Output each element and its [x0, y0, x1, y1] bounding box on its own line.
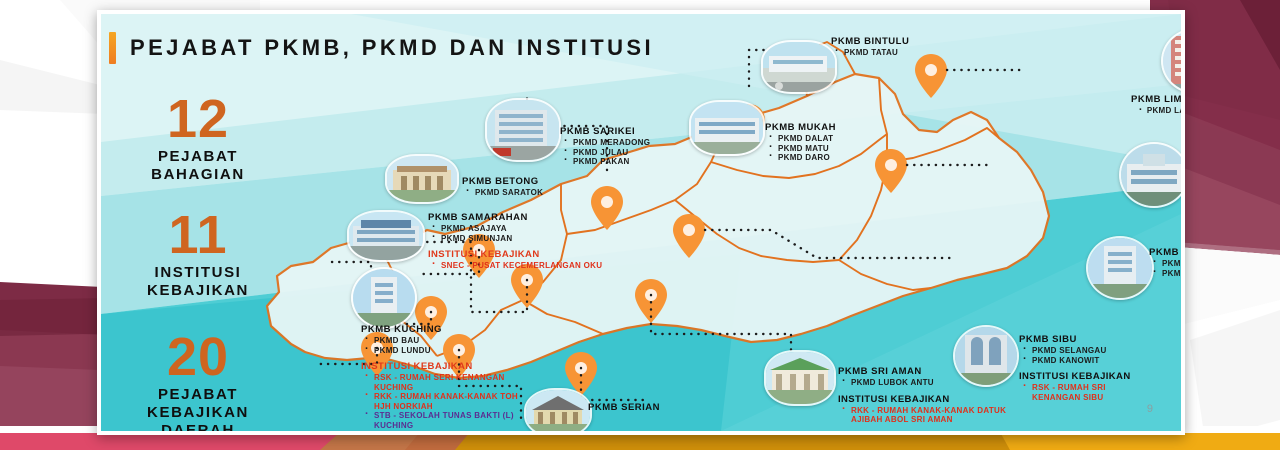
photo-miri [1119, 142, 1185, 208]
slide-card: PEJABAT PKMB, PKMD DAN INSTITUSI [97, 10, 1185, 435]
stat-pejabat-bahagian: 12 PEJABAT BAHAGIAN [123, 94, 273, 184]
office-title: PKMB SARIKEI [560, 126, 650, 137]
office-child: PKMD PAKAN [560, 157, 650, 167]
page-number: 9 [1147, 403, 1153, 415]
stat-caption: PEJABAT BAHAGIAN [123, 148, 273, 184]
office-label-sibu: PKMB SIBU PKMD SELANGAU PKMD KANOWIT INS… [1019, 334, 1152, 402]
office-child: PKMD KANOWIT [1019, 356, 1152, 366]
office-title: PKMB SAMARAHAN [428, 212, 602, 223]
slide-title-group: PEJABAT PKMB, PKMD DAN INSTITUSI [109, 32, 654, 64]
office-children: PKMD BAU PKMD LUNDU [361, 336, 524, 355]
office-child: PKMD ASAJAYA [428, 224, 602, 234]
office-title: PKMB BINTULU [831, 36, 909, 47]
institution-list: SNEC - PUSAT KECEMERLANGAN OKU [428, 261, 602, 271]
stat-caption-line1: INSTITUSI [123, 264, 273, 282]
page-title: PEJABAT PKMB, PKMD DAN INSTITUSI [130, 35, 654, 61]
photo-kapit [1086, 236, 1154, 300]
office-child: PKMD BAU [361, 336, 524, 346]
office-title: PKMB BETONG [462, 176, 543, 187]
office-children: PKMD LUBOK ANTU [838, 378, 1009, 388]
stat-number: 20 [123, 332, 273, 382]
institution-heading: INSTITUSI KEBAJIKAN [361, 361, 524, 372]
office-child: PKMD DARO [765, 153, 836, 163]
photo-kuching [351, 267, 417, 329]
stat-caption: INSTITUSI KEBAJIKAN [123, 264, 273, 300]
institution-item: STB - SEKOLAH TUNAS BAKTI (L) KUCHING [361, 411, 524, 430]
stat-caption: PEJABAT KEBAJIKAN DAERAH [123, 386, 273, 435]
office-child: PKMD SIMUNJAN [428, 234, 602, 244]
institution-item: SNEC - PUSAT KECEMERLANGAN OKU [428, 261, 602, 271]
institution-item: RKK - RUMAH KANAK-KANAK DATUK AJIBAH ABO… [838, 406, 1009, 425]
office-label-mukah: PKMB MUKAH PKMD DALAT PKMD MATU PKMD DAR… [765, 122, 836, 163]
institution-item: TSP - TAMAN SERI PUTERI [361, 430, 524, 435]
office-label-bintulu: PKMB BINTULU PKMD TATAU [831, 36, 909, 58]
stat-caption-line2: KEBAJIKAN [123, 404, 273, 422]
office-label-limbang: PKMB LIMBANG PKMD LAWAS [1131, 94, 1185, 116]
institution-item: RKK - RUMAH KANAK-KANAK TOH HJH NORKIAH [361, 392, 524, 411]
office-title: PKMB SRI AMAN [838, 366, 1009, 377]
stat-caption-line1: PEJABAT [123, 386, 273, 404]
photo-serian [524, 388, 592, 435]
stat-pejabat-kebajikan-daerah: 20 PEJABAT KEBAJIKAN DAERAH [123, 332, 273, 435]
office-title: PKMB KUCHING [361, 324, 524, 335]
institution-heading: INSTITUSI KEBAJIKAN [838, 394, 1009, 405]
office-child: PKMD LUNDU [361, 346, 524, 356]
institution-heading: INSTITUSI KEBAJIKAN [1019, 371, 1152, 382]
institution-heading: INSTITUSI KEBAJIKAN [428, 249, 602, 260]
photo-betong [385, 154, 459, 204]
stat-caption-line2: KEBAJIKAN [123, 282, 273, 300]
office-title: PKMB SERIAN [588, 402, 660, 413]
institution-item: RSK - RUMAH SRI KENANGAN SIBU [1019, 383, 1152, 402]
office-child: PKMD SELANGAU [1019, 346, 1152, 356]
title-accent-bar [109, 32, 116, 64]
office-label-sri-aman: PKMB SRI AMAN PKMD LUBOK ANTU INSTITUSI … [838, 366, 1009, 425]
photo-samarahan [347, 210, 425, 262]
office-child: PKMD TATAU [831, 48, 909, 58]
office-child: PKMD BELAGA [1149, 269, 1185, 279]
stat-number: 11 [123, 210, 273, 260]
office-children: PKMD LAWAS [1131, 106, 1185, 116]
office-label-kuching: PKMB KUCHING PKMD BAU PKMD LUNDU INSTITU… [361, 324, 524, 435]
office-child: PKMD MERADONG [560, 138, 650, 148]
institution-item: RSK - RUMAH SERI KENANGAN KUCHING [361, 373, 524, 392]
stat-caption-line3: DAERAH [123, 422, 273, 435]
office-child: PKMD LAWAS [1131, 106, 1185, 116]
office-children: PKMD ASAJAYA PKMD SIMUNJAN [428, 224, 602, 243]
office-child: PKMD LUBOK ANTU [838, 378, 1009, 388]
photo-bintulu [761, 40, 837, 94]
office-children: PKMD MERADONG PKMD JULAU PKMD PAKAN [560, 138, 650, 167]
office-child: PKMD DALAT [765, 134, 836, 144]
office-label-sarikei: PKMB SARIKEI PKMD MERADONG PKMD JULAU PK… [560, 126, 650, 167]
photo-mukah [689, 100, 765, 156]
institution-list: RSK - RUMAH SRI KENANGAN SIBU [1019, 383, 1152, 402]
office-title: PKMB SIBU [1019, 334, 1152, 345]
stat-institusi-kebajikan: 11 INSTITUSI KEBAJIKAN [123, 210, 273, 300]
photo-sarikei [485, 98, 561, 162]
photo-sri-aman [764, 350, 836, 406]
map-pin-limbang [915, 54, 947, 98]
office-label-serian: PKMB SERIAN [588, 402, 660, 413]
office-child: PKMD MATU [765, 144, 836, 154]
office-children: PKMD TATAU [831, 48, 909, 58]
stat-caption-line2: BAHAGIAN [123, 166, 273, 184]
office-children: PKMD SARATOK [462, 188, 543, 198]
office-label-kapit: PKMB KAPIT PKMD SONG PKMD BELAGA [1149, 247, 1185, 278]
office-title: PKMB MUKAH [765, 122, 836, 133]
office-label-betong: PKMB BETONG PKMD SARATOK [462, 176, 543, 198]
stat-caption-line1: PEJABAT [123, 148, 273, 166]
office-children: PKMD SELANGAU PKMD KANOWIT [1019, 346, 1152, 365]
institution-list: RSK - RUMAH SERI KENANGAN KUCHING RKK - … [361, 373, 524, 435]
office-label-samarahan: PKMB SAMARAHAN PKMD ASAJAYA PKMD SIMUNJA… [428, 212, 602, 271]
office-child: PKMD JULAU [560, 148, 650, 158]
office-children: PKMD DALAT PKMD MATU PKMD DARO [765, 134, 836, 163]
stat-number: 12 [123, 94, 273, 144]
office-child: PKMD SARATOK [462, 188, 543, 198]
office-children: PKMD SONG PKMD BELAGA [1149, 259, 1185, 278]
institution-list: RKK - RUMAH KANAK-KANAK DATUK AJIBAH ABO… [838, 406, 1009, 425]
